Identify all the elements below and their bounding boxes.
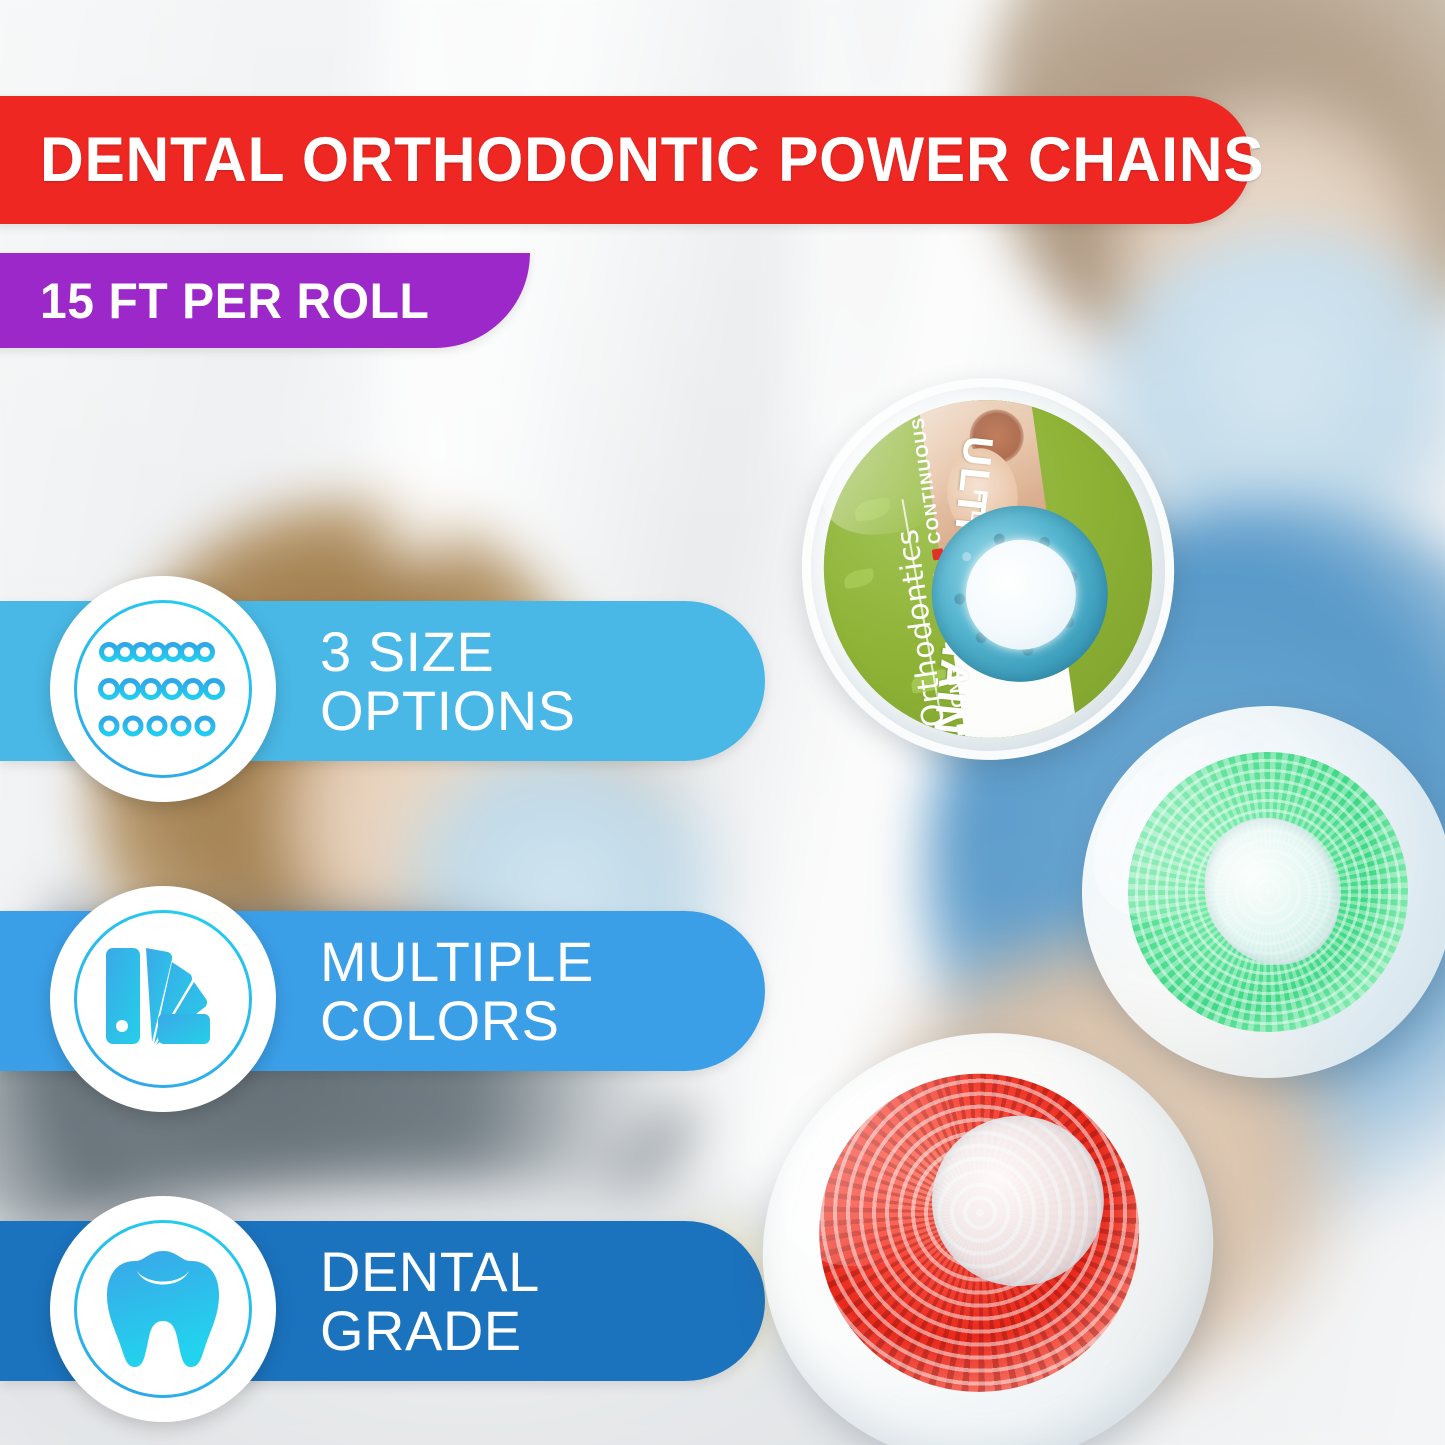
color-swatch-fan-icon [100, 940, 226, 1058]
icon-ring [74, 1220, 252, 1398]
subhead-banner: 15 FT PER ROLL [0, 253, 530, 348]
checkbox-icon [956, 723, 968, 735]
feature-icon-disc [50, 886, 276, 1112]
icon-ring-inner [77, 603, 249, 775]
icon-ring [74, 910, 252, 1088]
package-label: ULTRA-CHAIN FILAMENT 15FT Orthodontics L… [802, 379, 1174, 759]
chain-links-icon [93, 634, 233, 744]
packaged-roll: ULTRA-CHAIN FILAMENT 15FT Orthodontics L… [777, 354, 1199, 784]
feature-label: MULTIPLE COLORS [320, 932, 594, 1051]
tooth-icon [101, 1245, 225, 1373]
icon-ring-inner [77, 1223, 249, 1395]
feature-label: 3 SIZE OPTIONS [320, 622, 576, 741]
feature-icon-disc [50, 1196, 276, 1422]
product-infographic: DENTAL ORTHODONTIC POWER CHAINS 15 FT PE… [0, 0, 1445, 1445]
feature-label: DENTAL GRADE [320, 1242, 540, 1361]
feature-icon-disc [50, 576, 276, 802]
headline-text: DENTAL ORTHODONTIC POWER CHAINS [40, 129, 1264, 192]
headline-banner: DENTAL ORTHODONTIC POWER CHAINS [0, 96, 1251, 224]
subhead-text: 15 FT PER ROLL [40, 276, 429, 326]
icon-ring-inner [77, 913, 249, 1085]
icon-ring [74, 600, 252, 778]
